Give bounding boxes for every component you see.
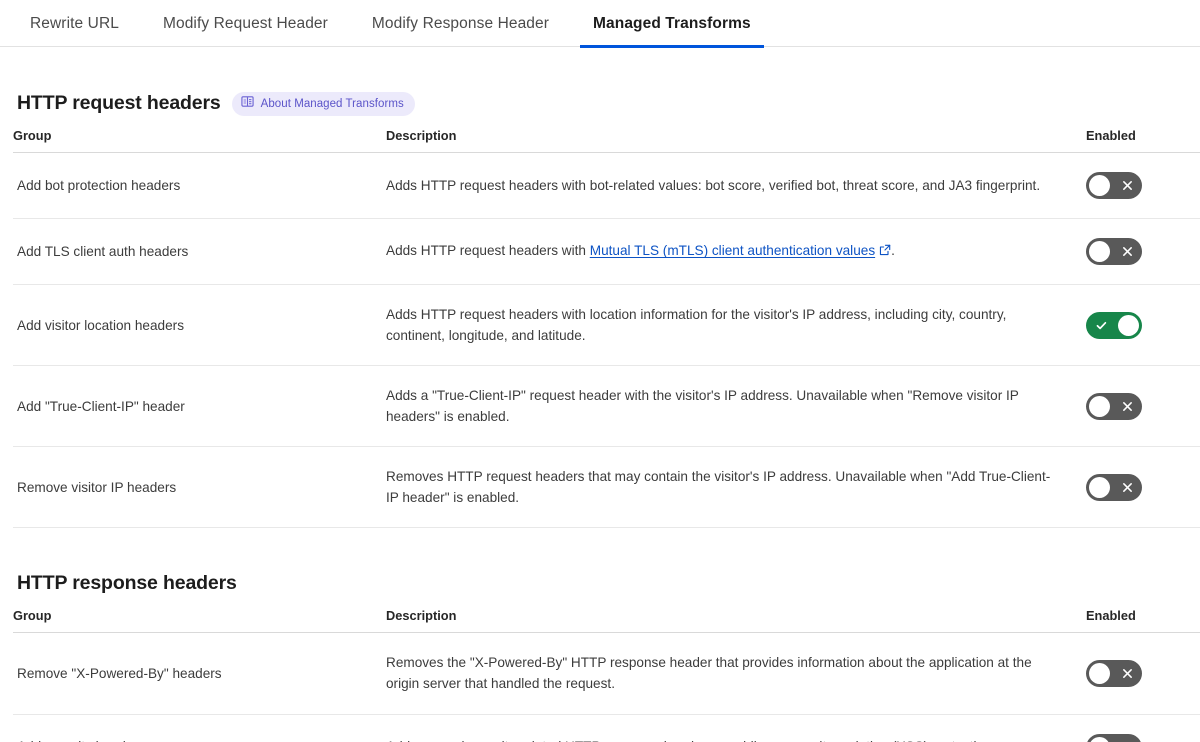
column-header-group: Group bbox=[13, 128, 386, 153]
tab-bar: Rewrite URL Modify Request Header Modify… bbox=[0, 0, 1200, 47]
row-enabled-cell bbox=[1086, 153, 1200, 219]
row-description: Adds a "True-Client-IP" request header w… bbox=[386, 366, 1086, 447]
row-enabled-cell bbox=[1086, 219, 1200, 285]
request-section-header: HTTP request headers About Managed Trans… bbox=[13, 91, 1187, 115]
row-enabled-cell bbox=[1086, 285, 1200, 366]
request-headers-table: Group Description Enabled Add bot protec… bbox=[13, 128, 1200, 528]
book-icon bbox=[241, 95, 254, 113]
tab-modify-request-header[interactable]: Modify Request Header bbox=[163, 0, 328, 47]
tab-managed-transforms[interactable]: Managed Transforms bbox=[593, 0, 751, 47]
row-enabled-cell bbox=[1086, 633, 1200, 714]
tab-rewrite-url[interactable]: Rewrite URL bbox=[30, 0, 119, 47]
row-description: Adds several security-related HTTP respo… bbox=[386, 714, 1086, 742]
mutual-tls-link[interactable]: Mutual TLS (mTLS) client authentication … bbox=[590, 243, 875, 258]
table-row: Remove "X-Powered-By" headers Removes th… bbox=[13, 633, 1200, 714]
toggle-add-security-headers[interactable] bbox=[1086, 734, 1142, 742]
row-description: Adds HTTP request headers with Mutual TL… bbox=[386, 219, 1086, 285]
toggle-remove-visitor-ip-headers[interactable] bbox=[1086, 474, 1142, 501]
row-description: Removes the "X-Powered-By" HTTP response… bbox=[386, 633, 1086, 714]
row-description: Adds HTTP request headers with bot-relat… bbox=[386, 153, 1086, 219]
table-header-row: Group Description Enabled bbox=[13, 128, 1200, 153]
row-group-label: Add TLS client auth headers bbox=[13, 219, 386, 285]
table-row: Add visitor location headers Adds HTTP r… bbox=[13, 285, 1200, 366]
external-link-icon[interactable] bbox=[879, 241, 891, 262]
table-row: Remove visitor IP headers Removes HTTP r… bbox=[13, 447, 1200, 528]
toggle-add-bot-protection-headers[interactable] bbox=[1086, 172, 1142, 199]
request-section-title: HTTP request headers bbox=[17, 92, 221, 115]
response-headers-table: Group Description Enabled Remove "X-Powe… bbox=[13, 608, 1200, 742]
row-description: Removes HTTP request headers that may co… bbox=[386, 447, 1086, 528]
column-header-enabled: Enabled bbox=[1086, 608, 1200, 633]
http-request-headers-section: HTTP request headers About Managed Trans… bbox=[0, 91, 1200, 528]
toggle-add-visitor-location-headers[interactable] bbox=[1086, 312, 1142, 339]
toggle-knob bbox=[1118, 315, 1139, 336]
toggle-knob bbox=[1089, 241, 1110, 262]
toggle-knob bbox=[1089, 663, 1110, 684]
about-managed-transforms-label: About Managed Transforms bbox=[261, 98, 404, 110]
row-group-label: Add "True-Client-IP" header bbox=[13, 366, 386, 447]
toggle-knob bbox=[1089, 477, 1110, 498]
table-row: Add "True-Client-IP" header Adds a "True… bbox=[13, 366, 1200, 447]
row-group-label: Remove "X-Powered-By" headers bbox=[13, 633, 386, 714]
response-section-title: HTTP response headers bbox=[17, 572, 237, 595]
http-response-headers-section: HTTP response headers Group Description … bbox=[0, 572, 1200, 742]
check-icon bbox=[1088, 312, 1114, 339]
close-icon bbox=[1114, 474, 1140, 501]
description-prefix: Adds HTTP request headers with bbox=[386, 243, 590, 258]
toggle-remove-x-powered-by-headers[interactable] bbox=[1086, 660, 1142, 687]
column-header-group: Group bbox=[13, 608, 386, 633]
table-row: Add TLS client auth headers Adds HTTP re… bbox=[13, 219, 1200, 285]
toggle-add-true-client-ip-header[interactable] bbox=[1086, 393, 1142, 420]
table-row: Add bot protection headers Adds HTTP req… bbox=[13, 153, 1200, 219]
section-spacer-top bbox=[0, 47, 1200, 91]
close-icon bbox=[1114, 734, 1140, 742]
tab-modify-response-header[interactable]: Modify Response Header bbox=[372, 0, 549, 47]
column-header-description: Description bbox=[386, 128, 1086, 153]
close-icon bbox=[1114, 393, 1140, 420]
row-enabled-cell bbox=[1086, 447, 1200, 528]
row-group-label: Remove visitor IP headers bbox=[13, 447, 386, 528]
toggle-add-tls-client-auth-headers[interactable] bbox=[1086, 238, 1142, 265]
row-group-label: Add security headers bbox=[13, 714, 386, 742]
toggle-knob bbox=[1089, 175, 1110, 196]
table-header-row: Group Description Enabled bbox=[13, 608, 1200, 633]
about-managed-transforms-badge[interactable]: About Managed Transforms bbox=[232, 92, 415, 116]
close-icon bbox=[1114, 660, 1140, 687]
close-icon bbox=[1114, 172, 1140, 199]
row-group-label: Add bot protection headers bbox=[13, 153, 386, 219]
row-description: Adds HTTP request headers with location … bbox=[386, 285, 1086, 366]
close-icon bbox=[1114, 238, 1140, 265]
section-spacer-middle bbox=[0, 528, 1200, 572]
toggle-knob bbox=[1089, 737, 1110, 742]
table-row: Add security headers Adds several securi… bbox=[13, 714, 1200, 742]
row-enabled-cell bbox=[1086, 714, 1200, 742]
response-section-header: HTTP response headers bbox=[13, 572, 1187, 595]
description-suffix: . bbox=[891, 243, 895, 258]
column-header-enabled: Enabled bbox=[1086, 128, 1200, 153]
request-table-spacer bbox=[13, 115, 1187, 128]
toggle-knob bbox=[1089, 396, 1110, 417]
row-group-label: Add visitor location headers bbox=[13, 285, 386, 366]
row-enabled-cell bbox=[1086, 366, 1200, 447]
response-table-spacer bbox=[13, 595, 1187, 608]
column-header-description: Description bbox=[386, 608, 1086, 633]
